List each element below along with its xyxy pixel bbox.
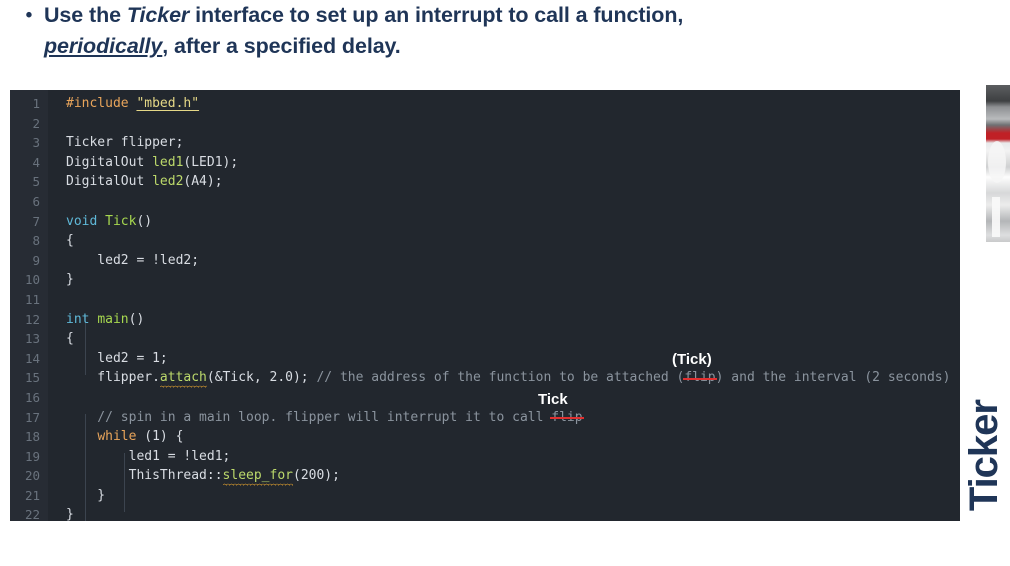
code-token: led2 = 1;	[66, 351, 168, 366]
code-panel[interactable]: 1#include "mbed.h"23Ticker flipper;4Digi…	[10, 90, 960, 521]
code-line[interactable]: 4DigitalOut led1(LED1);	[10, 153, 960, 173]
code-token: led2 = !led2;	[66, 253, 199, 268]
code-line-number: 22	[10, 505, 48, 521]
code-line-number: 7	[10, 212, 48, 232]
code-token: int	[66, 312, 97, 327]
code-token: sleep_for	[223, 468, 293, 483]
code-token: Ticker flipper;	[66, 135, 183, 150]
code-line-content[interactable]: {	[48, 231, 74, 251]
slide-bullet: • Use the Ticker interface to set up an …	[14, 0, 714, 62]
code-token: }	[66, 507, 74, 521]
code-token: {	[66, 331, 74, 346]
code-line-number: 8	[10, 231, 48, 251]
bullet-text-part4: , after a specified delay.	[162, 34, 400, 58]
code-line-number: 11	[10, 290, 48, 310]
code-token: void	[66, 214, 105, 229]
code-line-content[interactable]: }	[48, 505, 74, 521]
code-token: flip	[551, 410, 582, 425]
bullet-text-ticker-italic: Ticker	[127, 3, 189, 27]
code-line[interactable]: 3Ticker flipper;	[10, 133, 960, 153]
bullet-text-part1: Use the	[44, 3, 127, 27]
code-line-content[interactable]: led2 = !led2;	[48, 251, 199, 271]
code-line[interactable]: 19 led1 = !led1;	[10, 447, 960, 467]
code-line-number: 10	[10, 270, 48, 290]
code-line[interactable]: 2	[10, 114, 960, 134]
code-line-number: 9	[10, 251, 48, 271]
code-line-number: 6	[10, 192, 48, 212]
code-line[interactable]: 14 led2 = 1;	[10, 349, 960, 369]
code-line-content[interactable]: while (1) {	[48, 427, 183, 447]
code-line[interactable]: 21 }	[10, 486, 960, 506]
code-line[interactable]: 10}	[10, 270, 960, 290]
code-line-content[interactable]: {	[48, 329, 74, 349]
code-token: ) and the interval (2 seconds)	[716, 370, 951, 385]
code-token: main	[97, 312, 128, 327]
code-token: ThisThread::	[66, 468, 223, 483]
code-line-number: 15	[10, 368, 48, 388]
code-token: // spin in a main loop. flipper will int…	[66, 410, 551, 425]
annotation-tick-paren: (Tick)	[672, 352, 712, 367]
code-line[interactable]: 18 while (1) {	[10, 427, 960, 447]
code-line-content[interactable]: ThisThread::sleep_for(200);	[48, 466, 340, 486]
code-line-number: 16	[10, 388, 48, 408]
code-token: (&Tick, 2.0);	[207, 370, 317, 385]
code-line[interactable]: 15 flipper.attach(&Tick, 2.0); // the ad…	[10, 368, 960, 388]
code-token: "mbed.h"	[136, 96, 199, 111]
code-line-content[interactable]: led2 = 1;	[48, 349, 168, 369]
code-token: DigitalOut	[66, 174, 152, 189]
code-line-content[interactable]: }	[48, 486, 105, 506]
code-line-content[interactable]: int main()	[48, 310, 144, 330]
code-line-content[interactable]: flipper.attach(&Tick, 2.0); // the addre…	[48, 368, 950, 388]
code-token: led1 = !led1;	[66, 449, 230, 464]
bullet-marker: •	[14, 0, 44, 32]
code-token: }	[66, 488, 105, 503]
code-token: (200);	[293, 468, 340, 483]
code-token: // the address of the function to be att…	[316, 370, 684, 385]
code-line-number: 12	[10, 310, 48, 330]
code-token: DigitalOut	[66, 155, 152, 170]
code-editor-lines[interactable]: 1#include "mbed.h"23Ticker flipper;4Digi…	[10, 90, 960, 521]
side-title-ticker: Ticker	[964, 400, 1004, 511]
code-token: {	[66, 233, 74, 248]
code-token: }	[66, 272, 74, 287]
code-line-number: 13	[10, 329, 48, 349]
bullet-text-part2: interface to set up an interrupt to call…	[189, 3, 683, 27]
bullet-text: Use the Ticker interface to set up an in…	[44, 0, 683, 62]
code-line[interactable]: 1#include "mbed.h"	[10, 94, 960, 114]
code-line-number: 20	[10, 466, 48, 486]
code-line-number: 17	[10, 408, 48, 428]
code-token: #include	[66, 96, 136, 111]
code-line[interactable]: 11	[10, 290, 960, 310]
code-line-number: 1	[10, 94, 48, 114]
code-line-number: 3	[10, 133, 48, 153]
code-line-content[interactable]: Ticker flipper;	[48, 133, 183, 153]
code-line-number: 19	[10, 447, 48, 467]
code-line[interactable]: 20 ThisThread::sleep_for(200);	[10, 466, 960, 486]
code-token: flip	[684, 370, 715, 385]
code-line-content[interactable]: DigitalOut led1(LED1);	[48, 153, 238, 173]
code-line-content[interactable]: // spin in a main loop. flipper will int…	[48, 408, 583, 428]
code-token: (A4);	[183, 174, 222, 189]
code-line-number: 2	[10, 114, 48, 134]
code-token: while	[97, 429, 136, 444]
code-line[interactable]: 9 led2 = !led2;	[10, 251, 960, 271]
code-token: flipper.	[66, 370, 160, 385]
code-line[interactable]: 7void Tick()	[10, 212, 960, 232]
code-line-content[interactable]: }	[48, 270, 74, 290]
code-line[interactable]: 17 // spin in a main loop. flipper will …	[10, 408, 960, 428]
code-token: (LED1);	[183, 155, 238, 170]
code-token: Tick	[105, 214, 136, 229]
code-line-content[interactable]: led1 = !led1;	[48, 447, 230, 467]
code-token: led1	[152, 155, 183, 170]
side-photo-strip	[986, 85, 1010, 242]
code-token: attach	[160, 370, 207, 385]
code-line[interactable]: 12int main()	[10, 310, 960, 330]
bullet-text-periodically: periodically	[44, 34, 162, 58]
code-line-number: 21	[10, 486, 48, 506]
code-line[interactable]: 22}	[10, 505, 960, 521]
code-line[interactable]: 6	[10, 192, 960, 212]
code-line[interactable]: 13{	[10, 329, 960, 349]
code-line-content[interactable]: DigitalOut led2(A4);	[48, 172, 223, 192]
code-token: ()	[129, 312, 145, 327]
code-token: ()	[136, 214, 152, 229]
code-token: (1) {	[136, 429, 183, 444]
code-token: led2	[152, 174, 183, 189]
code-line[interactable]: 5DigitalOut led2(A4);	[10, 172, 960, 192]
code-line-content[interactable]: void Tick()	[48, 212, 152, 232]
code-line-number: 14	[10, 349, 48, 369]
code-line-content[interactable]: #include "mbed.h"	[48, 94, 199, 114]
code-line[interactable]: 16	[10, 388, 960, 408]
annotation-tick: Tick	[538, 392, 568, 407]
code-line[interactable]: 8{	[10, 231, 960, 251]
code-line-number: 5	[10, 172, 48, 192]
code-line-number: 18	[10, 427, 48, 447]
code-token	[66, 429, 97, 444]
code-line-number: 4	[10, 153, 48, 173]
